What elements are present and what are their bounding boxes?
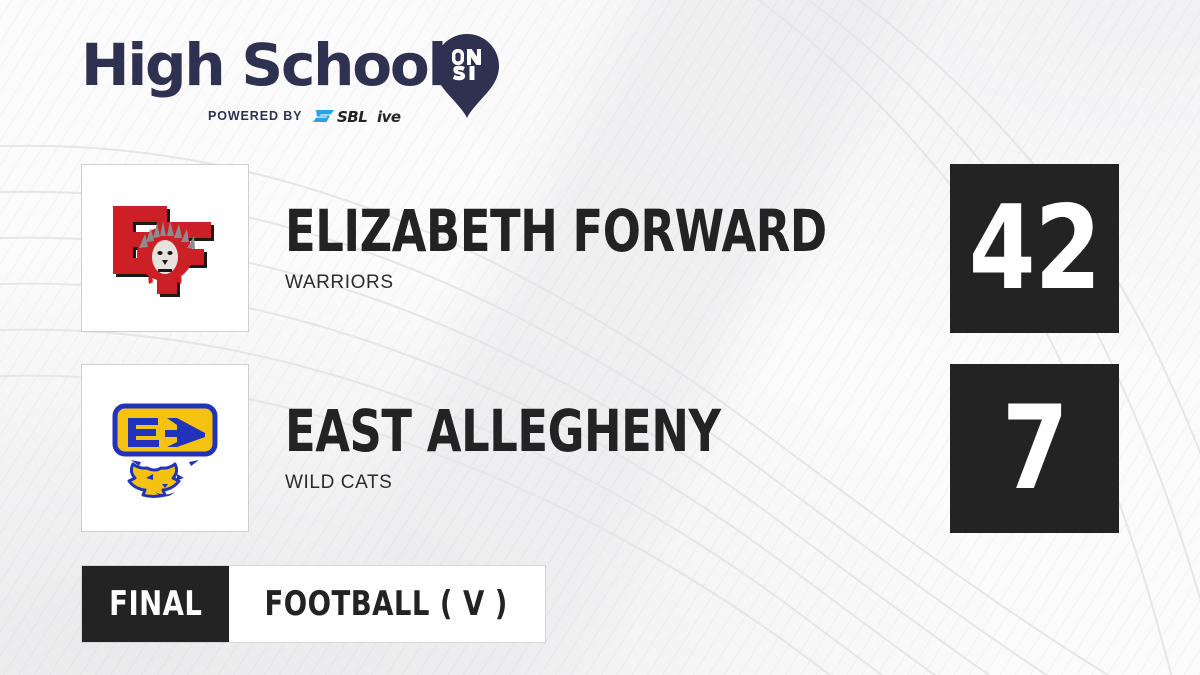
team-name: EAST ALLEGHENY <box>285 402 721 461</box>
sport-label: FOOTBALL ( V ) <box>265 584 508 624</box>
score-box: 7 <box>950 364 1119 533</box>
scoreboard-graphic: High School POWERED BY SBL <box>0 0 1200 675</box>
east-allegheny-wildcats-logo <box>95 378 235 518</box>
score-value: 42 <box>969 191 1101 307</box>
team-mascot: WILD CATS <box>285 472 792 494</box>
game-state-badge: FINAL <box>82 566 229 642</box>
team-text-block: EAST ALLEGHENY WILD CATS <box>285 364 792 532</box>
team-logo-card <box>81 164 249 332</box>
game-state-label: FINAL <box>109 584 202 624</box>
on-si-pin-icon <box>433 32 501 120</box>
team-name: ELIZABETH FORWARD <box>285 202 827 261</box>
team-logo-card <box>81 364 249 532</box>
powered-by-label: POWERED BY <box>208 109 302 123</box>
svg-text:ive: ive <box>377 108 401 126</box>
sport-label-panel: FOOTBALL ( V ) <box>229 566 545 642</box>
powered-by-row: POWERED BY SBL ive <box>208 106 421 126</box>
score-value: 7 <box>1002 391 1068 507</box>
brand-wordmark: High School <box>81 36 445 94</box>
sblive-logo: SBL ive <box>311 106 421 126</box>
score-box: 42 <box>950 164 1119 333</box>
svg-text:SBL: SBL <box>337 108 367 126</box>
elizabeth-forward-warriors-logo <box>95 178 235 318</box>
team-mascot: WARRIORS <box>285 272 915 294</box>
team-text-block: ELIZABETH FORWARD WARRIORS <box>285 164 915 332</box>
game-status-bar: FINAL FOOTBALL ( V ) <box>81 565 546 643</box>
brand-logo: High School POWERED BY SBL <box>81 34 511 134</box>
